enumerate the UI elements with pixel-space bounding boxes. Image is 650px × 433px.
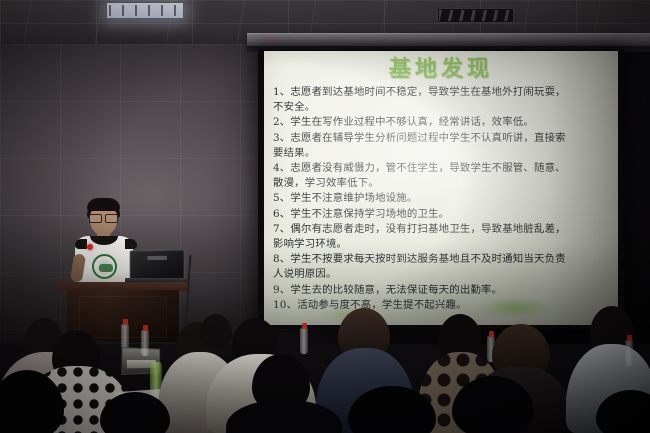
slide-line: 9、学生去的比较随意，无法保证每天的出勤率。 — [273, 283, 609, 298]
badge-icon — [87, 244, 93, 250]
water-bottle — [300, 328, 308, 354]
ceiling-light-icon — [106, 2, 184, 19]
shirt-logo-icon — [92, 254, 117, 279]
presenter-sleeve-left — [75, 239, 87, 249]
slide-line: 5、学生不注意维护场地设施。 — [273, 191, 609, 206]
podium-laptop — [128, 250, 184, 284]
audience-area — [0, 300, 650, 433]
audience-head — [200, 314, 232, 348]
slide-line: 7、偶尔有志愿者走时，没有打扫基地卫生，导致基地脏乱差， — [273, 222, 609, 237]
water-bottle — [625, 340, 633, 366]
slide-body: 1、志愿者到达基地时间不稳定，导致学生在基地外打闹玩耍， 不安全。 2、学生在写… — [273, 85, 609, 313]
projection-screen-frame: 基地发现 1、志愿者到达基地时间不稳定，导致学生在基地外打闹玩耍， 不安全。 2… — [258, 49, 624, 329]
slide-line: 6、学生不注意保持学习场地的卫生。 — [273, 207, 609, 222]
slide-line: 人说明原因。 — [273, 267, 609, 282]
slide-line: 1、志愿者到达基地时间不稳定，导致学生在基地外打闹玩耍， — [273, 85, 609, 100]
slide-line: 8、学生不按要求每天按时到达服务基地且不及时通知当天负责 — [273, 252, 609, 267]
slide-title: 基地发现 — [273, 57, 609, 83]
laptop-lid — [130, 249, 185, 280]
slide-line: 不安全。 — [273, 100, 609, 115]
projection-screen: 基地发现 1、志愿者到达基地时间不稳定，导致学生在基地外打闹玩耍， 不安全。 2… — [264, 51, 618, 325]
water-bottle — [121, 324, 129, 350]
slide-line: 散漫，学习效率低下。 — [273, 176, 609, 191]
slide-line: 2、学生在写作业过程中不够认真，经常讲话，效率低。 — [273, 115, 609, 130]
eyeglasses-icon — [89, 214, 118, 221]
projector-screen-valance: Rocco — [247, 33, 650, 46]
valance-brand-label: Rocco — [264, 37, 278, 42]
slide-line: 4、志愿者没有威慑力，管不住学生，导致学生不服管、随意、 — [273, 161, 609, 176]
slide-line: 要结果。 — [273, 146, 609, 161]
presenter-hair-fringe — [87, 198, 120, 211]
air-vent-icon — [437, 8, 514, 23]
slide-line: 影响学习环境。 — [273, 237, 609, 252]
lecture-room-scene: Rocco 基地发现 1、志愿者到达基地时间不稳定，导致学生在基地外打闹玩耍， … — [0, 0, 650, 433]
laptop-brand-logo-icon — [147, 256, 167, 260]
presenter-sleeve-right — [125, 239, 137, 249]
water-bottle — [141, 330, 149, 356]
slide-line: 3、志愿者在辅导学生分析问题过程中学生不认真听讲，直接索 — [273, 131, 609, 146]
slide-content: 基地发现 1、志愿者到达基地时间不稳定，导致学生在基地外打闹玩耍， 不安全。 2… — [264, 51, 618, 325]
